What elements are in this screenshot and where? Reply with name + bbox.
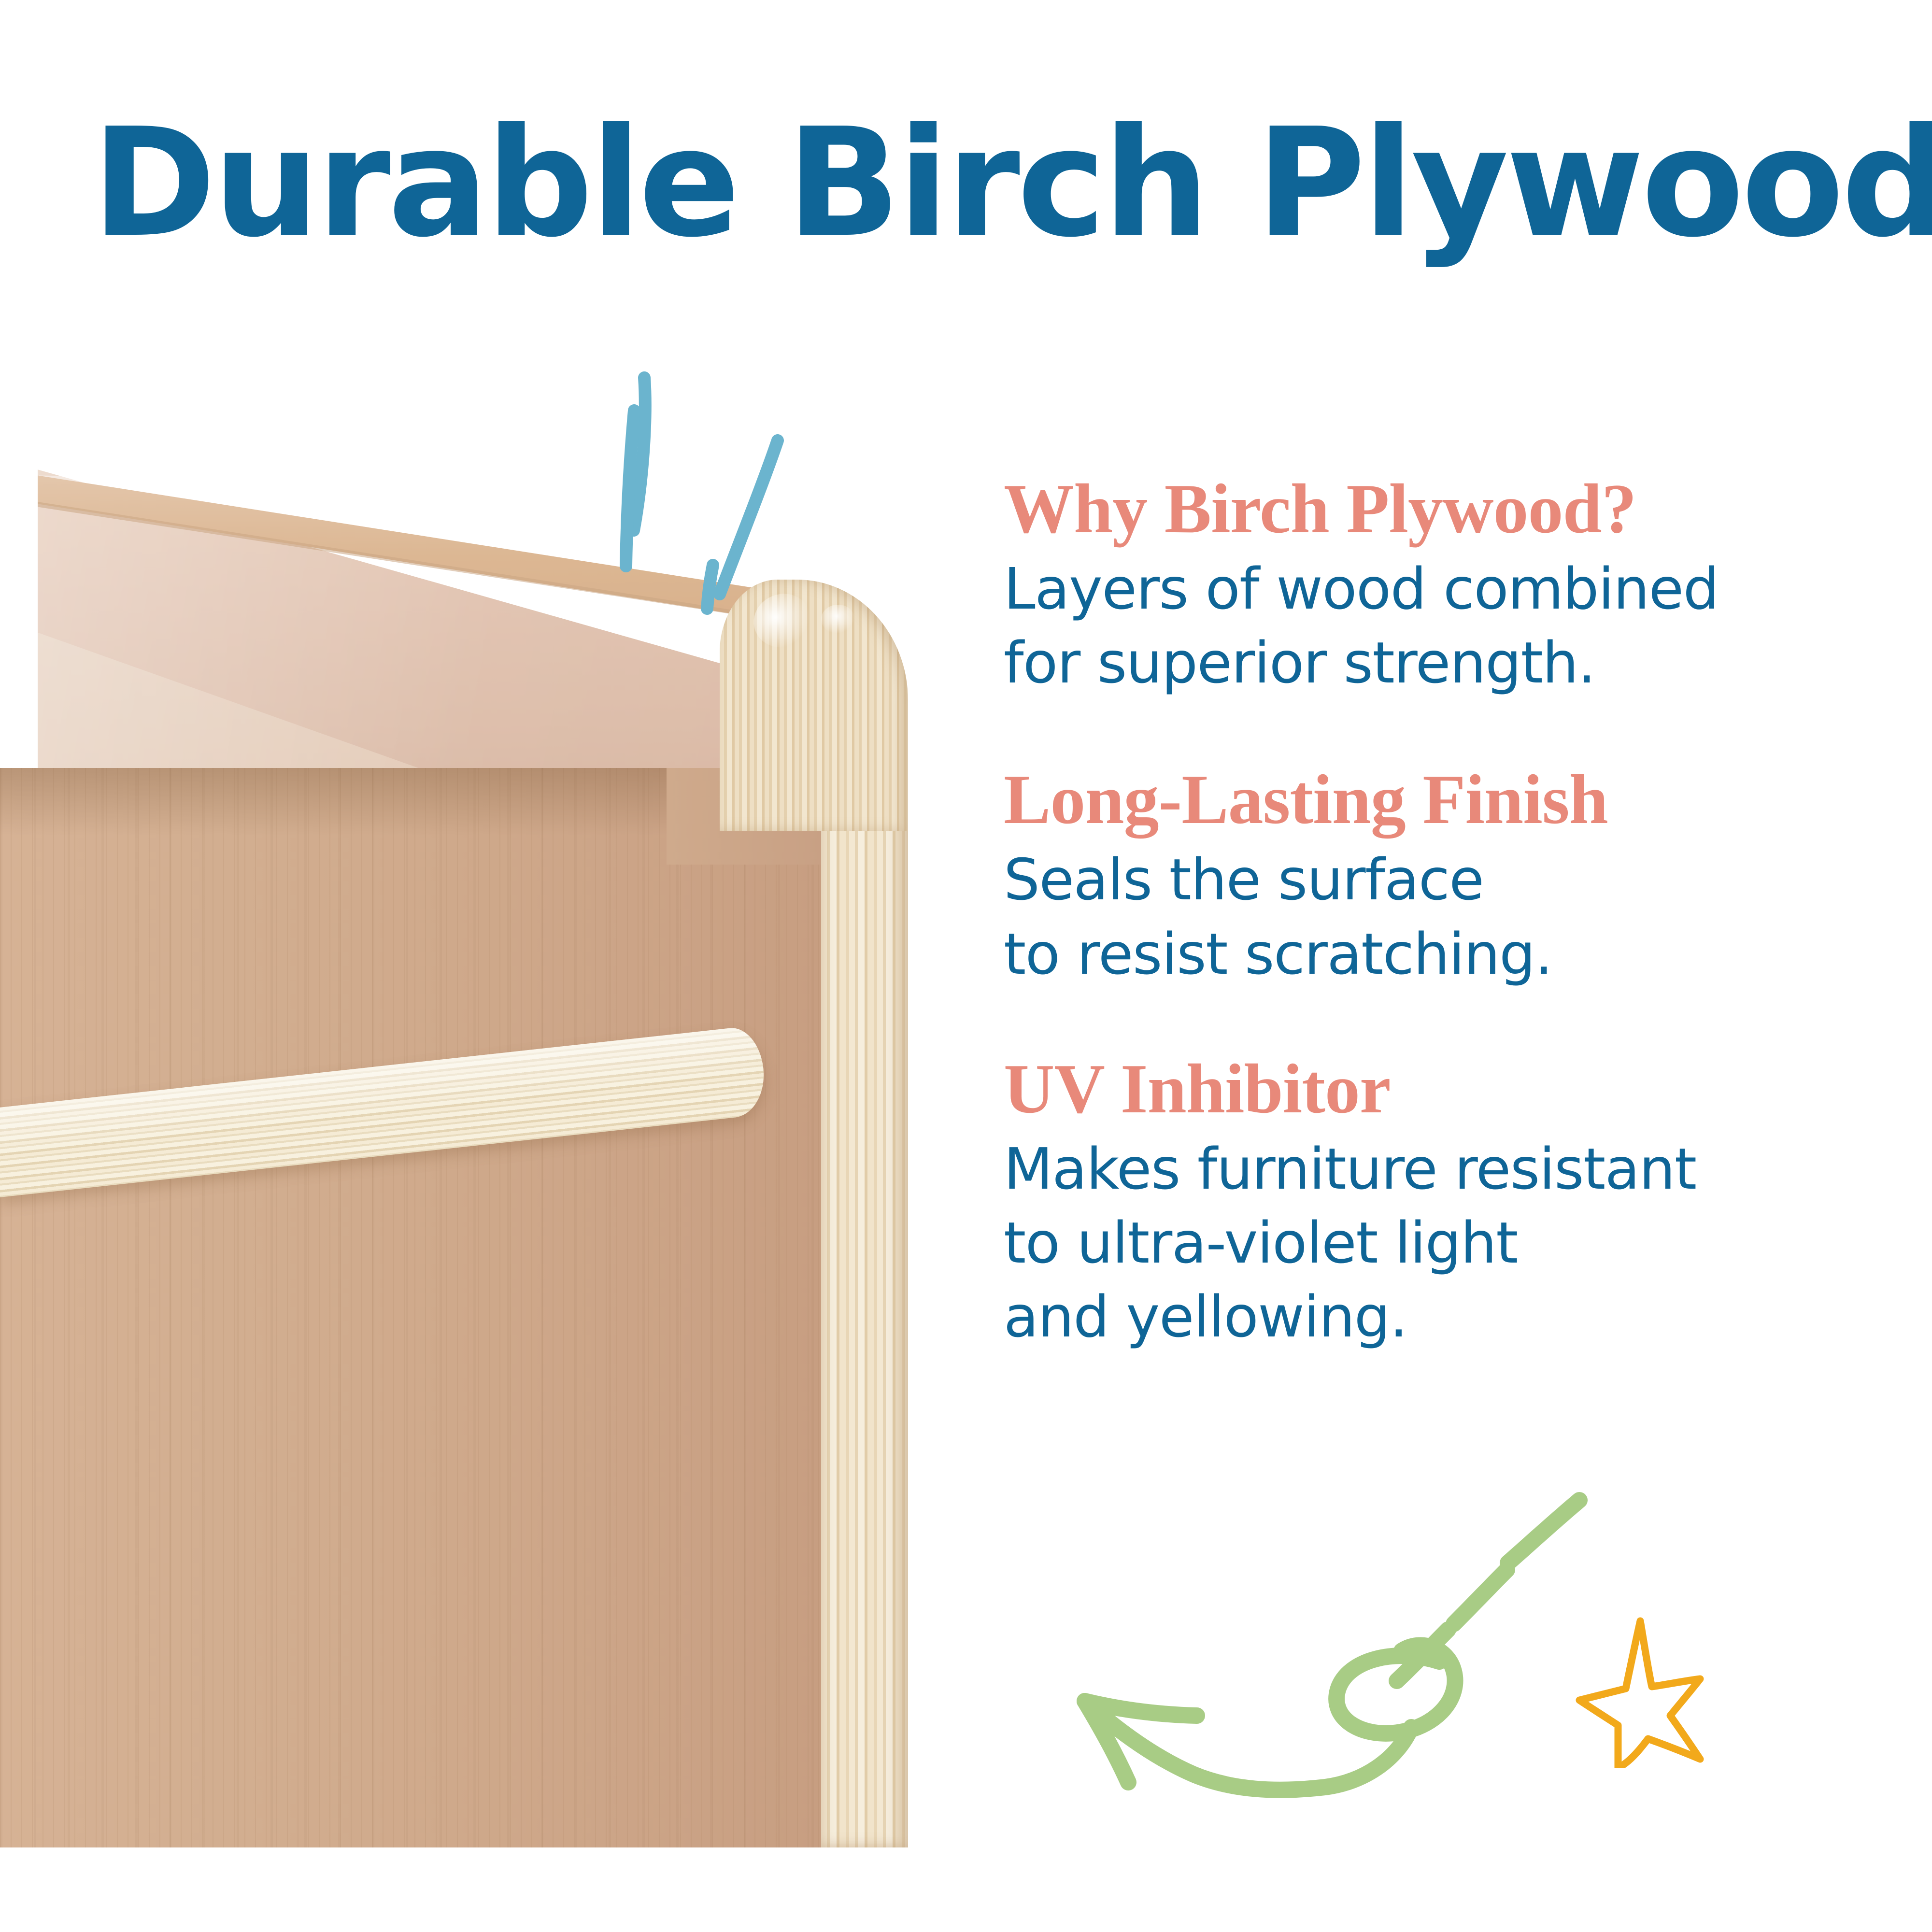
product-photo: [0, 435, 920, 1847]
feature-body-3-line-1: Makes furniture resistant: [1004, 1132, 1873, 1206]
sparkle-stroke-long-1b: [626, 411, 634, 566]
arrow-dash-1: [1508, 1500, 1579, 1563]
blue-sparkle-doodle: [570, 338, 937, 628]
feature-body-1: Layers of wood combined for superior str…: [1004, 552, 1873, 700]
feature-heading-2: Long-Lasting Finish: [1004, 762, 1873, 838]
yellow-star-doodle: [1541, 1604, 1705, 1768]
sparkle-stroke-long-2b: [707, 565, 713, 609]
front-panel-face: [0, 768, 824, 1847]
feature-gap-2: [1004, 991, 1873, 1051]
star-outline: [1579, 1621, 1700, 1768]
feature-heading-3: UV Inhibitor: [1004, 1051, 1873, 1127]
feature-item-1: Why Birch Plywood? Layers of wood combin…: [1004, 471, 1873, 700]
layered-ply-right-edge: [821, 724, 908, 1847]
page-title: Durable Birch Plywood: [92, 109, 1850, 258]
plywood-board: [0, 435, 920, 1847]
sparkle-stroke-long-2: [720, 440, 778, 594]
feature-gap-1: [1004, 700, 1873, 762]
arrow-loop: [1336, 1646, 1455, 1733]
infographic-canvas: Durable Birch Plywood: [0, 0, 1932, 1932]
arrow-shaft-a: [1194, 1775, 1325, 1790]
feature-heading-1: Why Birch Plywood?: [1004, 471, 1873, 547]
feature-list: Why Birch Plywood? Layers of wood combin…: [1004, 471, 1873, 1354]
arrow-dash-2: [1454, 1570, 1507, 1624]
feature-body-2-line-1: Seals the surface: [1004, 843, 1873, 917]
feature-body-2-line-2: to resist scratching.: [1004, 917, 1873, 991]
feature-body-2: Seals the surface to resist scratching.: [1004, 843, 1873, 991]
feature-body-1-line-1: Layers of wood combined: [1004, 552, 1873, 626]
feature-item-2: Long-Lasting Finish Seals the surface to…: [1004, 762, 1873, 991]
feature-item-3: UV Inhibitor Makes furniture resistant t…: [1004, 1051, 1873, 1354]
feature-body-3-line-2: to ultra-violet light: [1004, 1206, 1873, 1280]
feature-body-3-line-3: and yellowing.: [1004, 1280, 1873, 1354]
feature-body-1-line-2: for superior strength.: [1004, 626, 1873, 700]
feature-body-3: Makes furniture resistant to ultra-viole…: [1004, 1132, 1873, 1354]
